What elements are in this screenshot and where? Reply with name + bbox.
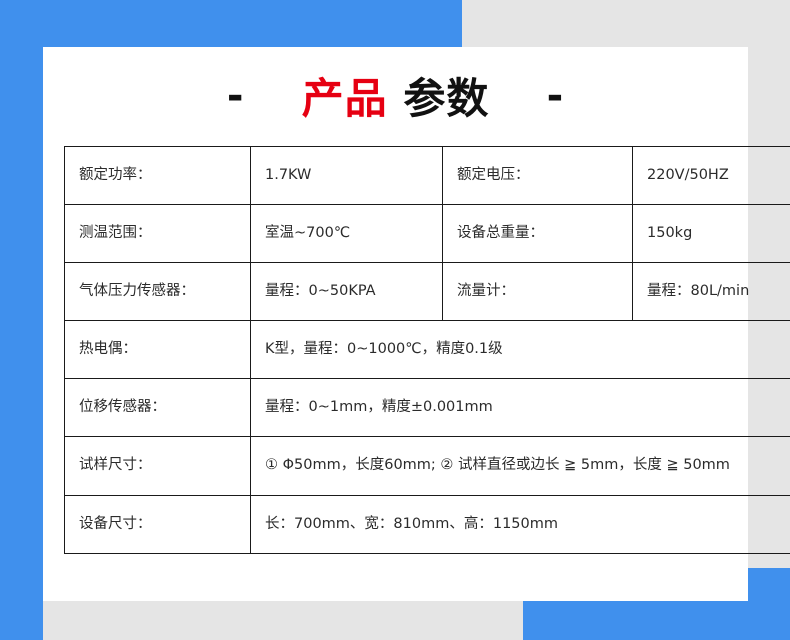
spec-value: 量程：0~1mm，精度±0.001mm bbox=[251, 379, 790, 437]
spec-label: 测温范围： bbox=[65, 205, 251, 263]
table-row: 测温范围： 室温~700℃ 设备总重量： 150kg bbox=[65, 205, 790, 263]
spec-value: 150kg bbox=[633, 205, 790, 263]
spec-label: 额定功率： bbox=[65, 147, 251, 205]
spec-label: 试样尺寸： bbox=[65, 437, 251, 496]
decor-right-blue-strip bbox=[748, 568, 790, 640]
title-red-text: 产品 bbox=[302, 74, 388, 123]
spec-label: 额定电压： bbox=[443, 147, 633, 205]
spec-label: 位移传感器： bbox=[65, 379, 251, 437]
spec-label: 热电偶： bbox=[65, 321, 251, 379]
title-black-text: 参数 bbox=[403, 74, 489, 123]
title-left-dash: - bbox=[227, 73, 245, 119]
spec-value: 1.7KW bbox=[251, 147, 443, 205]
spec-value: 量程：80L/min bbox=[633, 263, 790, 321]
page-title: - 产品 参数 - bbox=[43, 47, 748, 122]
spec-label: 流量计： bbox=[443, 263, 633, 321]
table-row: 设备尺寸： 长：700mm、宽：810mm、高：1150mm bbox=[65, 496, 790, 554]
decor-left-blue-strip bbox=[0, 0, 43, 640]
spec-value: K型，量程：0~1000℃，精度0.1级 bbox=[251, 321, 790, 379]
spec-label: 设备总重量： bbox=[443, 205, 633, 263]
specifications-table: 额定功率： 1.7KW 额定电压： 220V/50HZ 测温范围： 室温~700… bbox=[64, 146, 790, 554]
table-row: 额定功率： 1.7KW 额定电压： 220V/50HZ bbox=[65, 147, 790, 205]
spec-value: 长：700mm、宽：810mm、高：1150mm bbox=[251, 496, 790, 554]
table-row: 热电偶： K型，量程：0~1000℃，精度0.1级 bbox=[65, 321, 790, 379]
table-row: 试样尺寸： ① Φ50mm，长度60mm; ② 试样直径或边长 ≧ 5mm，长度… bbox=[65, 437, 790, 496]
spec-value: ① Φ50mm，长度60mm; ② 试样直径或边长 ≧ 5mm，长度 ≧ 50m… bbox=[251, 437, 790, 496]
spec-label: 气体压力传感器： bbox=[65, 263, 251, 321]
spec-value: 220V/50HZ bbox=[633, 147, 790, 205]
product-parameters-page: { "theme": { "accent": "#4090ed", "title… bbox=[0, 0, 790, 640]
decor-top-blue-bar bbox=[0, 0, 462, 47]
title-right-dash: - bbox=[547, 73, 565, 119]
content-card: - 产品 参数 - 额定功率： 1.7KW 额定电压： 220V/50HZ 测温… bbox=[43, 47, 748, 601]
spec-label: 设备尺寸： bbox=[65, 496, 251, 554]
table-row: 气体压力传感器： 量程：0~50KPA 流量计： 量程：80L/min bbox=[65, 263, 790, 321]
spec-value: 量程：0~50KPA bbox=[251, 263, 443, 321]
specifications-table-body: 额定功率： 1.7KW 额定电压： 220V/50HZ 测温范围： 室温~700… bbox=[65, 147, 790, 554]
table-row: 位移传感器： 量程：0~1mm，精度±0.001mm bbox=[65, 379, 790, 437]
spec-value: 室温~700℃ bbox=[251, 205, 443, 263]
